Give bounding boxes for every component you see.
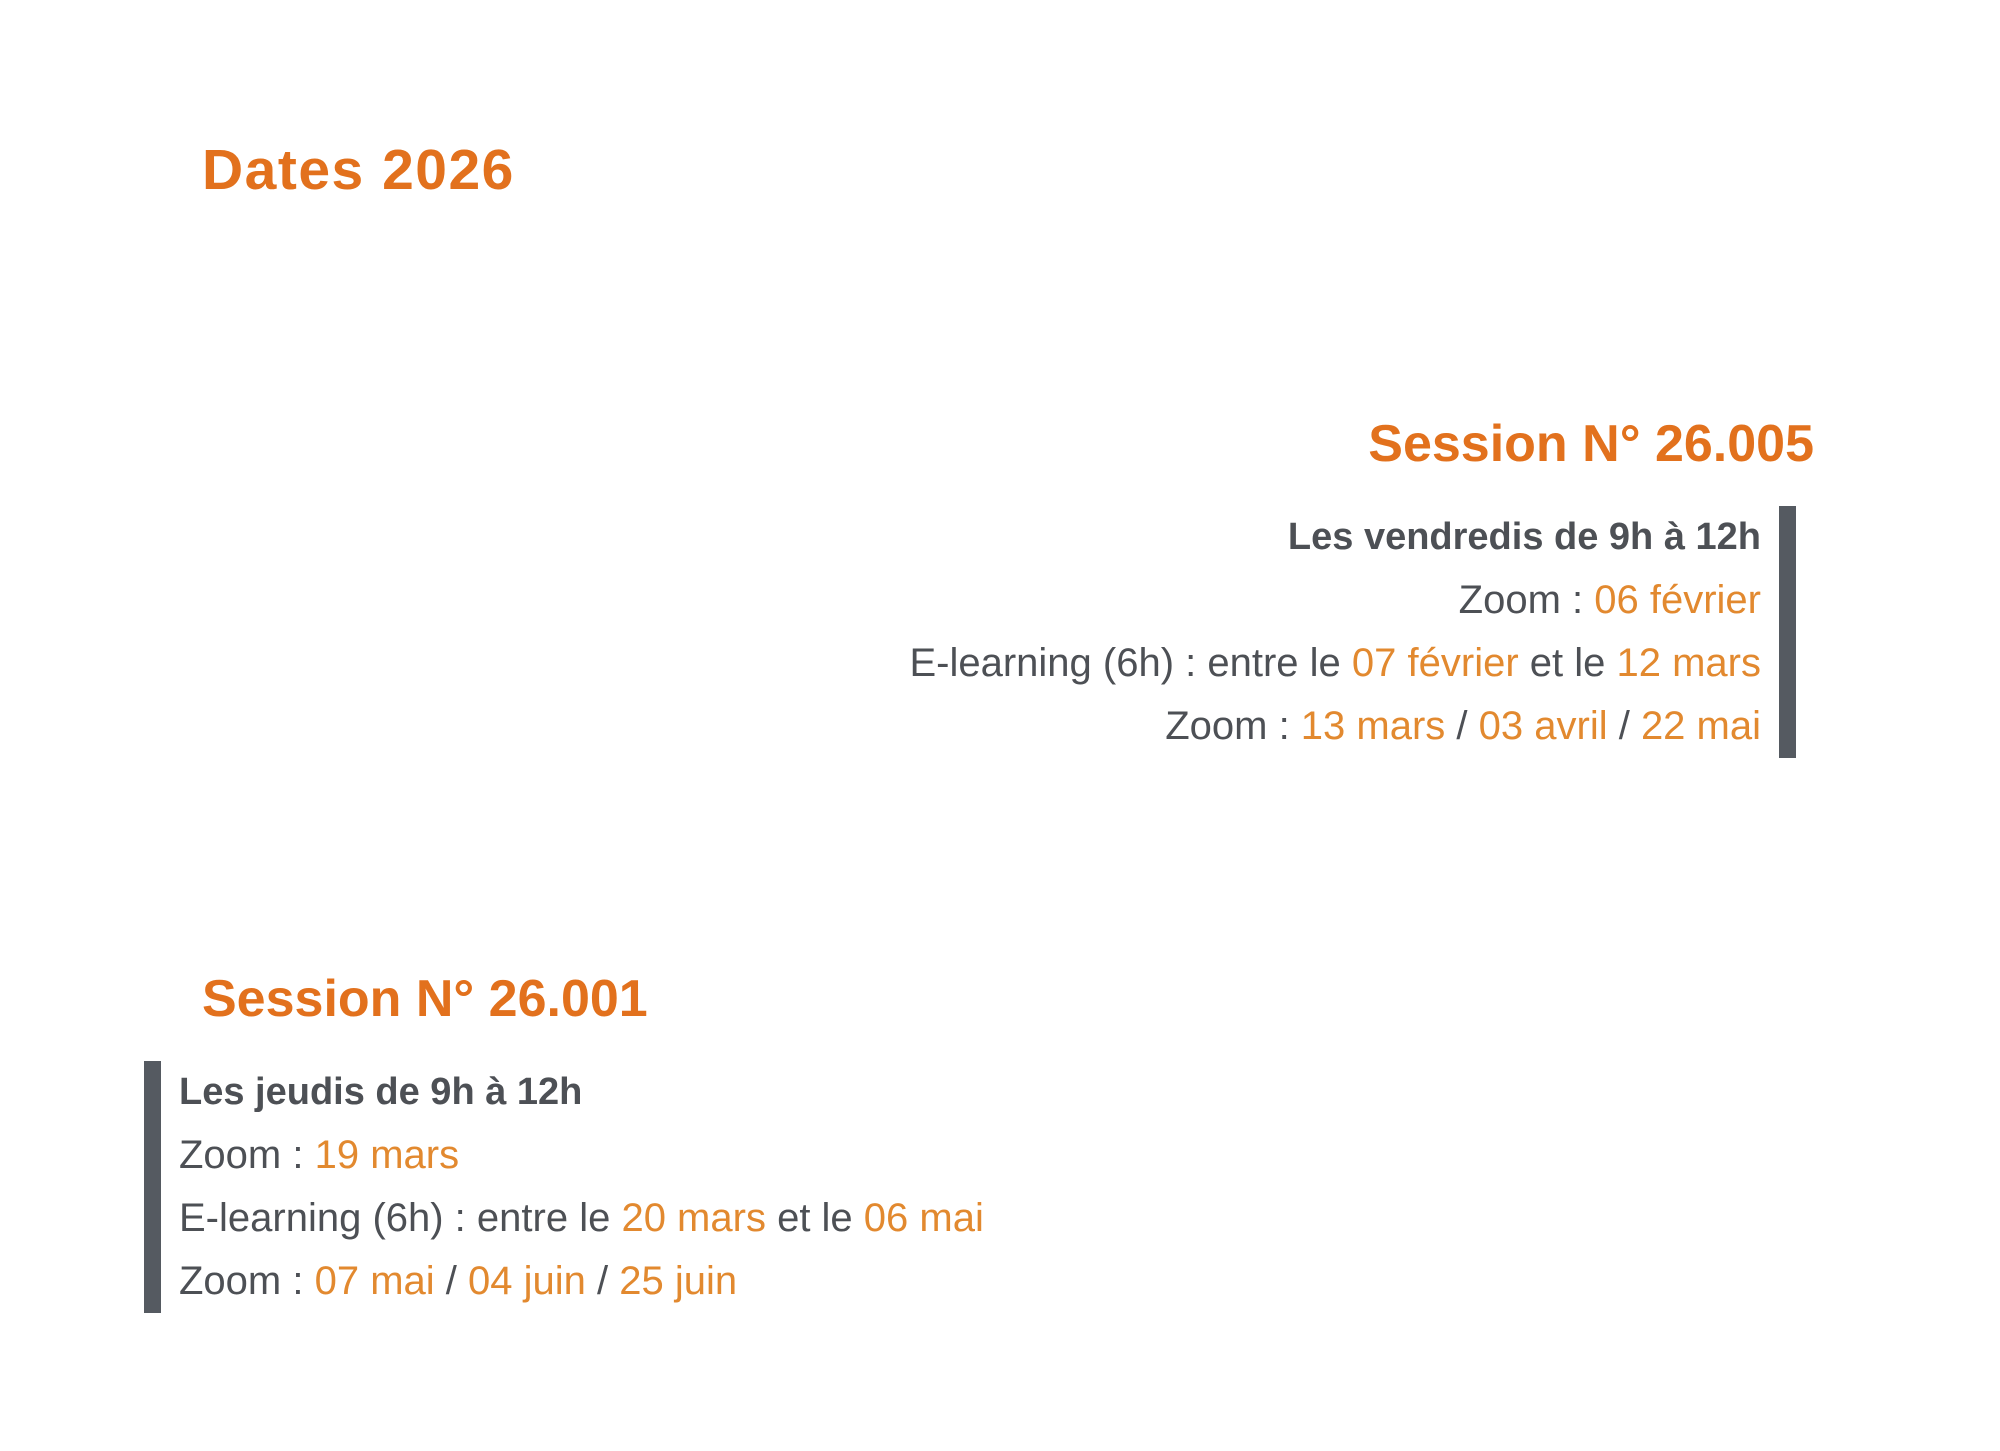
zoom-date-2: 04 juin (468, 1259, 586, 1303)
elearning-mid-text: et le (1519, 641, 1617, 685)
elearning-end-date: 06 mai (864, 1196, 984, 1240)
session-elearning-26001: E-learning (6h) : entre le 20 mars et le… (179, 1187, 984, 1250)
accent-bar-26005 (1779, 506, 1796, 758)
date-separator: / (435, 1259, 468, 1303)
page-title: Dates 2026 (202, 137, 515, 203)
session-details-26001: Les jeudis de 9h à 12h Zoom : 19 mars E-… (144, 1061, 984, 1313)
accent-bar-26001 (144, 1061, 161, 1313)
session-heading-26001: Session N° 26.001 (202, 973, 984, 1025)
elearning-label: E-learning (6h) : entre le (179, 1196, 621, 1240)
date-separator: / (1608, 704, 1641, 748)
date-separator: / (1445, 704, 1478, 748)
date-separator: / (586, 1259, 619, 1303)
session-details-26005: Les vendredis de 9h à 12h Zoom : 06 févr… (909, 506, 1796, 758)
session-schedule-26005: Les vendredis de 9h à 12h (1288, 506, 1761, 569)
zoom-date-3: 25 juin (619, 1259, 737, 1303)
session-heading-26005: Session N° 26.005 (909, 418, 1814, 470)
elearning-start-date: 20 mars (621, 1196, 766, 1240)
elearning-end-date: 12 mars (1617, 641, 1762, 685)
zoom-date: 19 mars (315, 1133, 460, 1177)
zoom-date-3: 22 mai (1641, 704, 1761, 748)
zoom-label: Zoom : (179, 1133, 315, 1177)
zoom-label: Zoom : (1165, 704, 1301, 748)
session-detail-lines-26005: Les vendredis de 9h à 12h Zoom : 06 févr… (909, 506, 1779, 758)
session-block-26005: Session N° 26.005 Les vendredis de 9h à … (909, 418, 1796, 758)
zoom-date: 06 février (1594, 578, 1761, 622)
session-elearning-26005: E-learning (6h) : entre le 07 février et… (909, 632, 1761, 695)
elearning-mid-text: et le (766, 1196, 864, 1240)
elearning-label: E-learning (6h) : entre le (909, 641, 1351, 685)
slide-canvas: Dates 2026 Session N° 26.005 Les vendred… (0, 0, 2000, 1451)
session-schedule-26001: Les jeudis de 9h à 12h (179, 1061, 582, 1124)
session-zoom-sessions-26001: Zoom : 07 mai / 04 juin / 25 juin (179, 1250, 737, 1313)
session-block-26001: Session N° 26.001 Les jeudis de 9h à 12h… (144, 973, 984, 1313)
session-detail-lines-26001: Les jeudis de 9h à 12h Zoom : 19 mars E-… (161, 1061, 984, 1313)
zoom-date-2: 03 avril (1479, 704, 1608, 748)
zoom-date-1: 07 mai (315, 1259, 435, 1303)
zoom-label: Zoom : (1459, 578, 1595, 622)
session-zoom-sessions-26005: Zoom : 13 mars / 03 avril / 22 mai (1165, 695, 1761, 758)
zoom-date-1: 13 mars (1301, 704, 1446, 748)
elearning-start-date: 07 février (1352, 641, 1519, 685)
session-zoom-first-26001: Zoom : 19 mars (179, 1124, 459, 1187)
zoom-label: Zoom : (179, 1259, 315, 1303)
session-zoom-first-26005: Zoom : 06 février (1459, 569, 1761, 632)
